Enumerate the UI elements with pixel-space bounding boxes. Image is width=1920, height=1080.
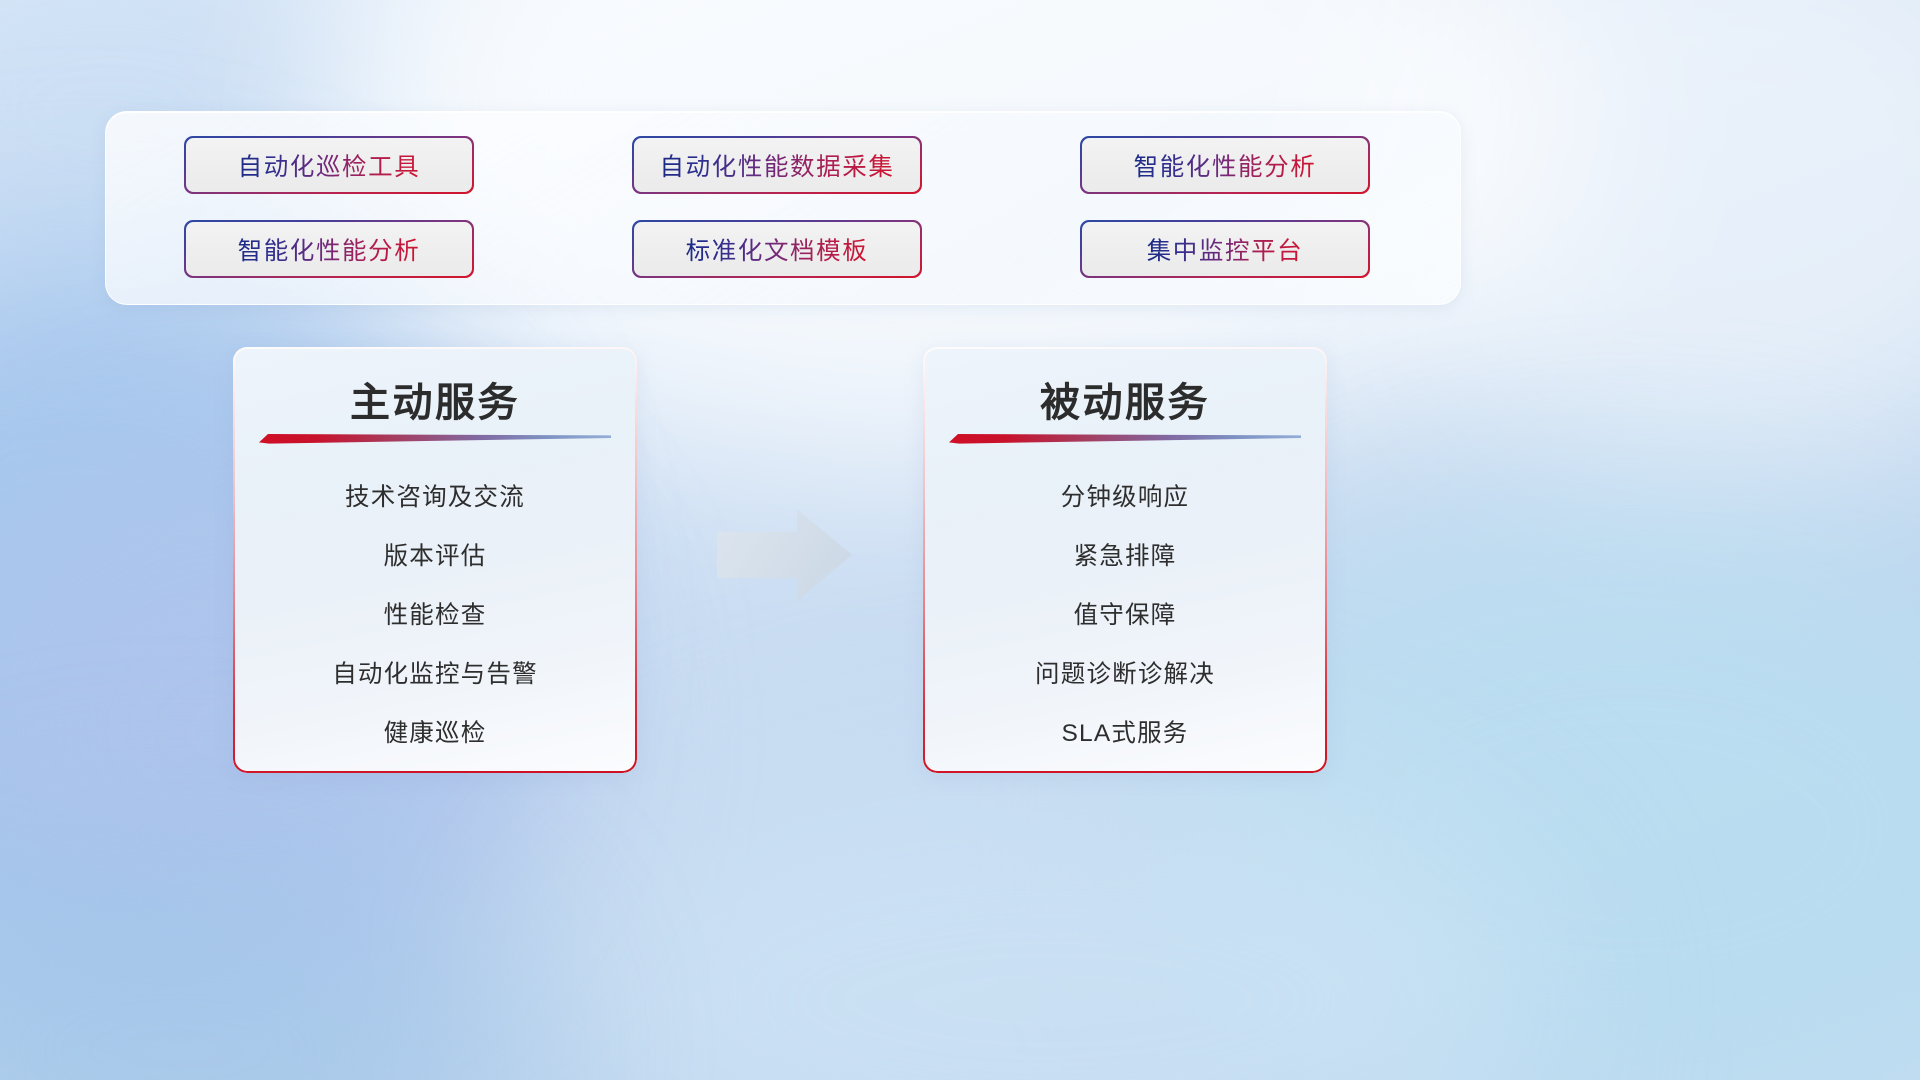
tool-chip-label: 自动化性能数据采集: [660, 148, 895, 183]
slide-canvas: 自动化巡检工具 自动化性能数据采集 智能化性能分析 智能化性能分析: [0, 0, 1920, 1080]
proactive-service-card[interactable]: 主动服务 技术咨询及交流 版本评估 性能检查 自动化监控与告警 健康巡检: [233, 347, 637, 773]
tool-chip-standard-doc-template[interactable]: 标准化文档模板: [632, 220, 922, 278]
list-item[interactable]: 自动化监控与告警: [233, 645, 637, 704]
tool-chip-label: 自动化巡检工具: [238, 148, 421, 183]
title-divider-reactive: [949, 433, 1301, 445]
tool-chip-surface: 自动化巡检工具: [186, 138, 473, 193]
tool-chip-automated-inspection[interactable]: 自动化巡检工具: [184, 136, 474, 194]
list-item[interactable]: 值守保障: [923, 586, 1327, 645]
tool-chip-surface: 集中监控平台: [1082, 222, 1369, 277]
tool-chip-surface: 智能化性能分析: [1082, 138, 1369, 193]
arrow-right-icon: [713, 506, 856, 604]
tools-panel: 自动化巡检工具 自动化性能数据采集 智能化性能分析 智能化性能分析: [105, 111, 1461, 305]
reactive-service-list: 分钟级响应 紧急排障 值守保障 问题诊断诊解决 SLA式服务: [923, 468, 1327, 763]
tool-chip-surface: 智能化性能分析: [186, 222, 473, 277]
tool-chip-intelligent-perf-analysis[interactable]: 智能化性能分析: [1080, 136, 1370, 194]
list-item[interactable]: 性能检查: [233, 586, 637, 645]
list-item[interactable]: 紧急排障: [923, 527, 1327, 586]
tool-chip-automated-perf-collection[interactable]: 自动化性能数据采集: [632, 136, 922, 194]
list-item[interactable]: SLA式服务: [923, 704, 1327, 763]
tool-chip-label: 智能化性能分析: [238, 232, 421, 267]
list-item[interactable]: 版本评估: [233, 527, 637, 586]
reactive-service-title: 被动服务: [923, 370, 1327, 428]
tool-chip-centralized-monitoring[interactable]: 集中监控平台: [1080, 220, 1370, 278]
tools-chip-grid: 自动化巡检工具 自动化性能数据采集 智能化性能分析 智能化性能分析: [184, 136, 1386, 282]
background-glow-bottom-left: [0, 840, 520, 1080]
tool-chip-label: 标准化文档模板: [686, 232, 869, 267]
proactive-service-list: 技术咨询及交流 版本评估 性能检查 自动化监控与告警 健康巡检: [233, 468, 637, 763]
tool-chip-label: 智能化性能分析: [1134, 148, 1317, 183]
tool-chip-surface: 标准化文档模板: [634, 222, 921, 277]
reactive-service-card[interactable]: 被动服务 分钟级响应 紧急排障 值守保障 问题诊断诊解决 SLA式服务: [923, 347, 1327, 773]
list-item[interactable]: 问题诊断诊解决: [923, 645, 1327, 704]
proactive-service-title: 主动服务: [233, 370, 637, 428]
tool-chip-surface: 自动化性能数据采集: [634, 138, 921, 193]
list-item[interactable]: 技术咨询及交流: [233, 468, 637, 527]
tool-chip-label: 集中监控平台: [1147, 232, 1304, 267]
list-item[interactable]: 分钟级响应: [923, 468, 1327, 527]
tool-chip-intelligent-perf-analysis-2[interactable]: 智能化性能分析: [184, 220, 474, 278]
title-divider-proactive: [259, 433, 611, 445]
list-item[interactable]: 健康巡检: [233, 704, 637, 763]
background-glow-bottom: [560, 760, 1540, 1080]
